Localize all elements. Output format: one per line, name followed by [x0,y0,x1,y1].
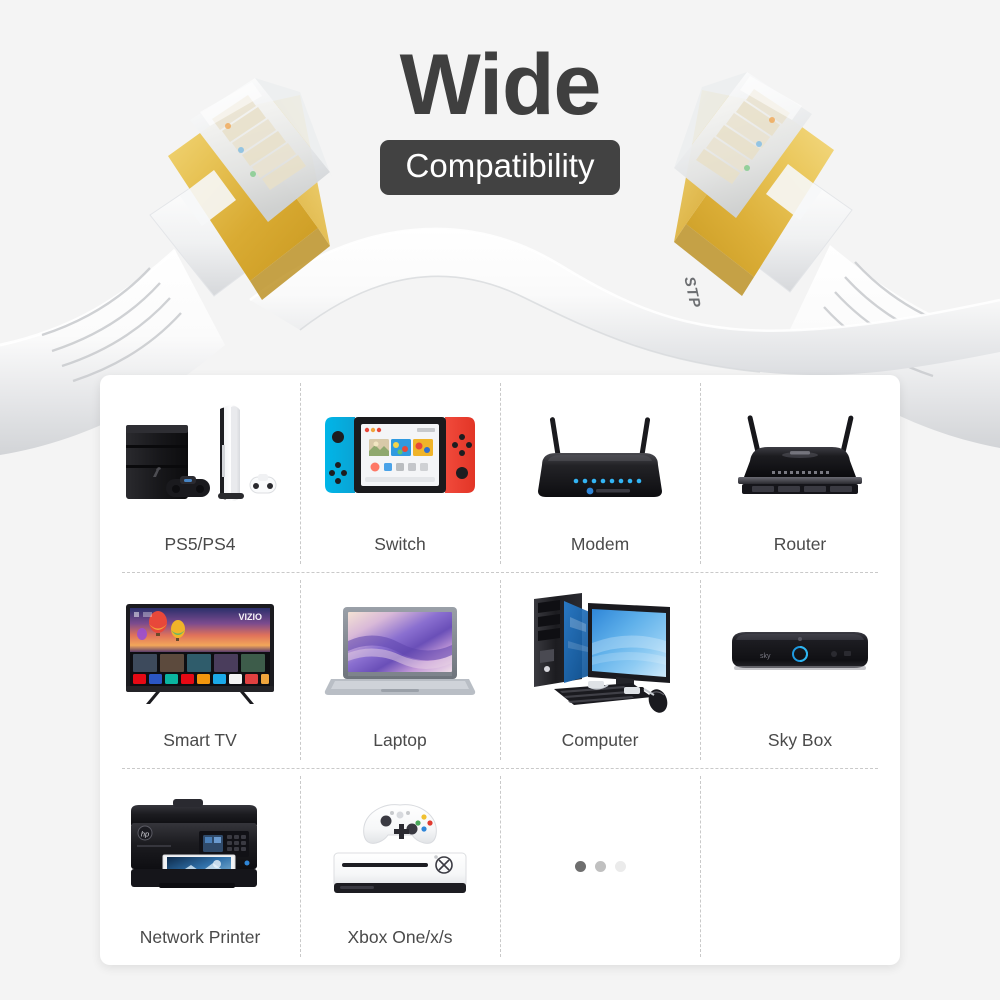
playstation-console-icon [100,375,300,528]
grid-row: hp Network Printer [100,768,900,965]
compat-item-switch[interactable]: Switch [300,375,500,572]
compat-item-xbox[interactable]: Xbox One/x/s [300,768,500,965]
compat-item-label: Switch [374,528,426,556]
compat-item-empty [700,768,900,965]
svg-text:hp: hp [141,829,149,838]
grid-row: VIZIO [100,572,900,769]
compat-item-label: Sky Box [768,724,832,752]
compat-item-network-printer[interactable]: hp Network Printer [100,768,300,965]
laptop-icon [300,572,500,725]
page-title: Wide [0,42,1000,130]
pagination-dots[interactable] [500,768,700,965]
pagination-dot-3[interactable] [615,861,626,872]
compat-item-router[interactable]: Router [700,375,900,572]
compat-item-computer[interactable]: Computer [500,572,700,769]
compat-item-label: Network Printer [140,921,261,949]
svg-text:sky: sky [760,653,771,660]
compatibility-card: PS5/PS4 [100,375,900,965]
desktop-computer-icon [500,572,700,725]
compat-item-laptop[interactable]: Laptop [300,572,500,769]
xbox-console-icon [300,768,500,921]
subtitle-badge: Compatibility [380,140,621,195]
compat-item-label: PS5/PS4 [164,528,235,556]
compat-item-label: Xbox One/x/s [347,921,452,949]
pagination-dots-group [575,768,626,965]
infographic-stage: STP Wide Compatibility [0,0,1000,1000]
nintendo-switch-icon [300,375,500,528]
compat-item-label: Router [774,528,827,556]
compat-item-label: Smart TV [163,724,237,752]
compat-item-label: Laptop [373,724,427,752]
router-icon [700,375,900,528]
compat-item-ps5-ps4[interactable]: PS5/PS4 [100,375,300,572]
pagination-dot-1[interactable] [575,861,586,872]
modem-icon [500,375,700,528]
headline-block: Wide Compatibility [0,42,1000,195]
compat-item-sky-box[interactable]: sky Sky Box [700,572,900,769]
printer-icon: hp [100,768,300,921]
smart-tv-icon: VIZIO [100,572,300,725]
grid-row: PS5/PS4 [100,375,900,572]
compat-item-smart-tv[interactable]: VIZIO [100,572,300,769]
sky-box-icon: sky [700,572,900,725]
pagination-dot-2[interactable] [595,861,606,872]
compat-item-label: Computer [562,724,639,752]
compat-item-modem[interactable]: Modem [500,375,700,572]
compat-item-label: Modem [571,528,629,556]
svg-text:VIZIO: VIZIO [238,612,262,622]
